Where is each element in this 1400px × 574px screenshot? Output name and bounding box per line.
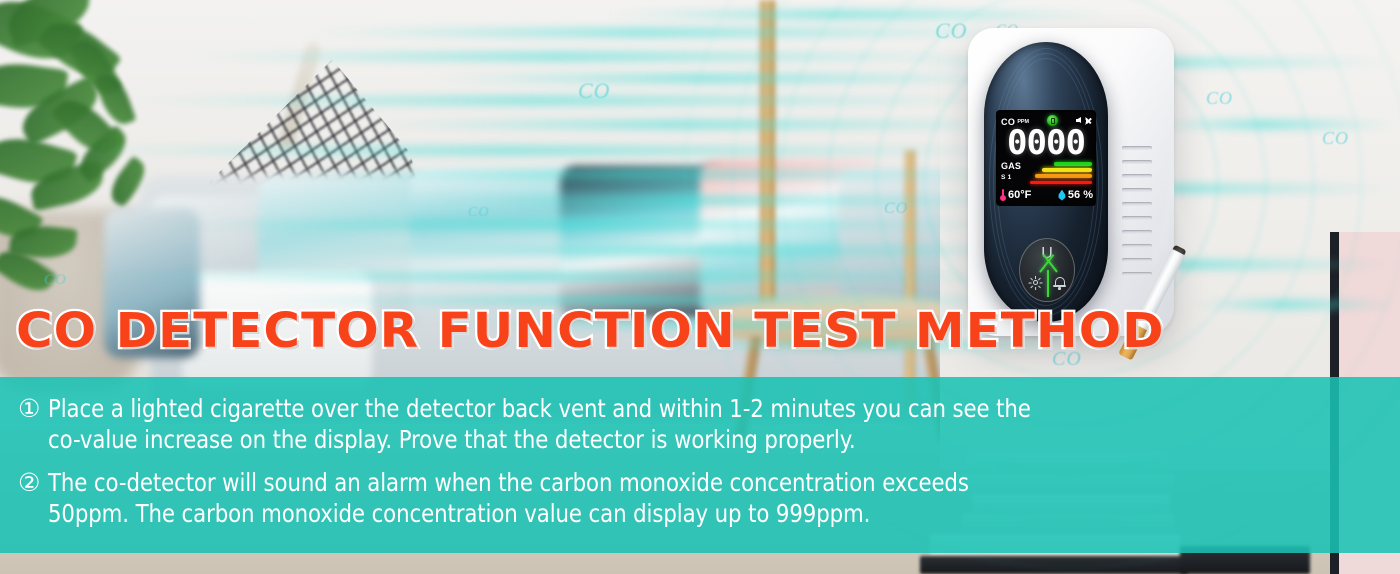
gas-bar <box>1054 162 1092 166</box>
water-drop-icon <box>1058 190 1066 201</box>
gas-bar <box>1035 174 1092 178</box>
instruction-text: The co-detector will sound an alarm when… <box>48 467 969 529</box>
book <box>920 556 1188 574</box>
gas-bar <box>1042 168 1092 172</box>
sun-ray <box>1030 285 1033 288</box>
sun-ray <box>1035 286 1036 289</box>
brightness-icon[interactable] <box>1029 276 1042 289</box>
sun-ray <box>1030 277 1033 280</box>
thermometer-icon <box>1000 189 1006 201</box>
page-title: CO DETECTOR FUNCTION TEST METHOD <box>16 303 1056 361</box>
co-watermark: CO <box>1206 88 1233 109</box>
gas-level-bars <box>1030 162 1092 187</box>
sun-ray <box>1038 285 1041 288</box>
co-reading-value: 0000 <box>1000 127 1092 160</box>
sun-ray <box>1035 276 1036 279</box>
bell-icon[interactable] <box>1053 276 1066 290</box>
co-watermark: CO <box>44 272 67 289</box>
gas-bar <box>1030 181 1092 185</box>
detector-screen: COPPM 0000 GAS S <box>996 110 1096 206</box>
detector-control-button[interactable]: U <box>1019 238 1075 302</box>
sun-ray <box>1038 277 1041 280</box>
instructions-band: ①Place a lighted cigarette over the dete… <box>0 377 1400 553</box>
co-watermark: CO <box>468 205 489 221</box>
detector-bezel: COPPM 0000 GAS S <box>984 42 1108 322</box>
instruction-item: ①Place a lighted cigarette over the dete… <box>18 393 1376 455</box>
detector-vents <box>1122 146 1152 276</box>
product-banner: COCOCOCOCOCOCOCOCOCO COPPM <box>0 0 1400 574</box>
gas-level-indicator: GAS S 1 <box>1001 162 1092 189</box>
sun-ray <box>1039 282 1042 283</box>
instruction-item: ②The co-detector will sound an alarm whe… <box>18 467 1376 529</box>
wood-pole <box>760 0 775 330</box>
instruction-text: Place a lighted cigarette over the detec… <box>48 393 1031 455</box>
co-watermark: CO <box>578 78 611 104</box>
instruction-marker: ① <box>18 393 48 424</box>
co-detector-device[interactable]: COPPM 0000 GAS S <box>968 28 1174 336</box>
co-watermark: CO <box>884 200 908 218</box>
instruction-marker: ② <box>18 467 48 498</box>
temperature-readout: 60°F <box>1000 189 1031 201</box>
instruction-list: ①Place a lighted cigarette over the dete… <box>0 377 1400 553</box>
gas-label: GAS S 1 <box>1001 162 1021 182</box>
sun-ray <box>1029 282 1032 283</box>
wood-pole-secondary <box>905 150 915 410</box>
humidity-readout: 56 % <box>1058 189 1093 201</box>
co-watermark: CO <box>1322 128 1349 149</box>
co-watermark: CO <box>935 18 968 44</box>
screen-readouts: 60°F 56 % <box>1000 188 1093 202</box>
